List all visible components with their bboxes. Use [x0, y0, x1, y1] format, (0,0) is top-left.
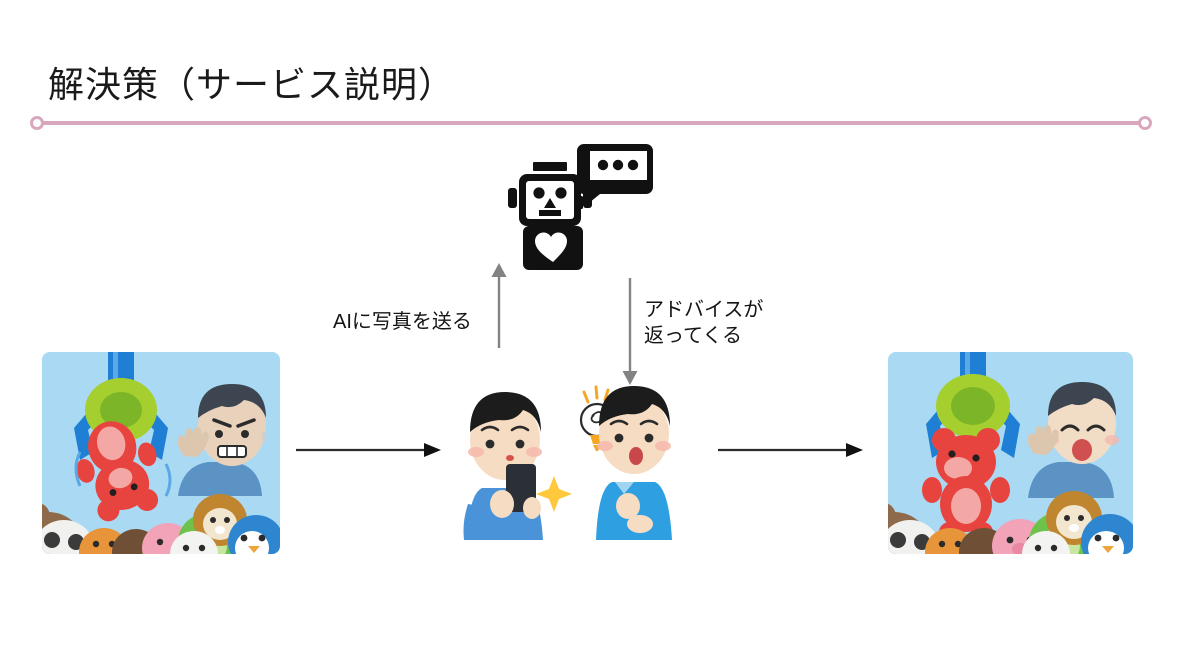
arrow-right-icon	[296, 440, 442, 465]
person-with-idea-illustration	[570, 378, 688, 540]
crane-game-failure-illustration	[42, 352, 280, 554]
crane-game-success-illustration	[888, 352, 1133, 554]
arrow-up-icon	[486, 262, 512, 353]
person-with-smartphone-illustration	[458, 388, 572, 540]
flow-label-send-photo: AIに写真を送る	[333, 309, 472, 335]
slide-canvas: 解決策（サービス説明）	[0, 0, 1182, 660]
ai-robot-chat-icon	[508, 140, 656, 272]
arrow-down-icon	[617, 278, 643, 391]
divider-endpoint-right-icon	[1138, 116, 1152, 130]
title-divider	[37, 121, 1145, 125]
page-title: 解決策（サービス説明）	[48, 56, 455, 108]
arrow-right-icon	[718, 440, 864, 465]
divider-endpoint-left-icon	[30, 116, 44, 130]
flow-label-advice-back: アドバイスが 返ってくる	[644, 297, 763, 350]
